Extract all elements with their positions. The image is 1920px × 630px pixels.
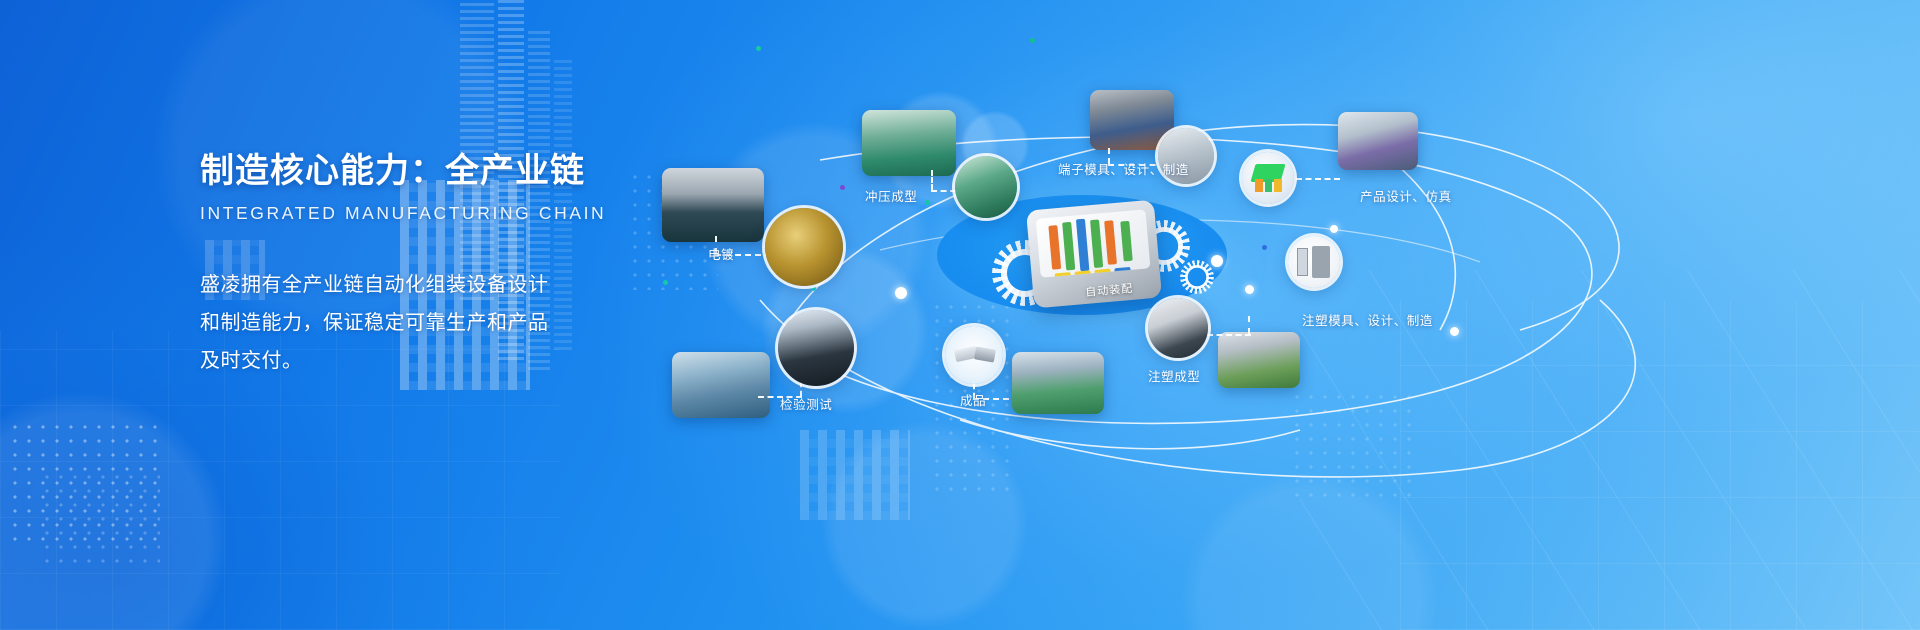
halftone-dots xyxy=(40,470,160,570)
node-label-terminal-mold: 端子模具、设计、制造 xyxy=(1058,159,1189,178)
mold-pin xyxy=(1114,267,1131,277)
accent-dot xyxy=(1262,245,1267,250)
mold-pin xyxy=(1074,270,1091,277)
accent-dot xyxy=(756,46,761,51)
page-title: 制造核心能力：全产业链 xyxy=(200,143,600,192)
connector-line xyxy=(1248,316,1250,334)
connector-line xyxy=(931,170,933,190)
node-photo-inspection[interactable] xyxy=(672,352,770,418)
node-icon-finished-goods[interactable] xyxy=(945,326,1003,384)
node-icon-injection-mold[interactable] xyxy=(1288,236,1340,288)
mold-pin xyxy=(1094,269,1111,278)
connector-line xyxy=(1296,178,1340,180)
mold-pin xyxy=(1048,225,1061,270)
node-icon-plating-grid[interactable] xyxy=(765,208,843,286)
mold-pin xyxy=(1120,221,1132,262)
node-icon-product-design[interactable] xyxy=(1242,152,1294,204)
page-subtitle: INTEGRATED MANUFACTURING CHAIN xyxy=(200,203,600,224)
node-label-finished-goods: 成品 xyxy=(960,390,986,409)
orbit-node-dot xyxy=(1330,225,1338,233)
connector-line xyxy=(1207,334,1251,336)
mold-pin xyxy=(1062,222,1075,271)
node-photo-product-design[interactable] xyxy=(1338,112,1418,170)
node-icon-injection-forming[interactable] xyxy=(1148,298,1208,358)
node-label-stamping: 冲压成型 xyxy=(865,186,917,205)
accent-dot xyxy=(840,185,845,190)
node-icon-inspection[interactable] xyxy=(778,310,854,386)
orbit-node-dot xyxy=(1245,285,1254,294)
banner-description: 盛凌拥有全产业链自动化组装设备设计和制造能力，保证稳定可靠生产和产品及时交付。 xyxy=(200,266,560,380)
hub-label: 自动装配 xyxy=(1085,280,1134,300)
mold-pin xyxy=(1104,220,1117,265)
orbit-node-dot xyxy=(895,287,907,299)
orbit-node-dot xyxy=(1450,327,1459,336)
node-label-plating: 电镀 xyxy=(708,244,734,263)
manufacturing-chain-diagram: 自动装配 电镀 冲压成型 端子模具、设计、制造 xyxy=(640,0,1920,630)
node-label-injection-forming: 注塑成型 xyxy=(1148,366,1200,385)
mold-pin xyxy=(1055,272,1072,278)
node-photo-plating[interactable] xyxy=(662,168,764,242)
node-label-inspection: 检验测试 xyxy=(780,394,832,413)
mold-pin xyxy=(1090,219,1103,268)
gear-icon xyxy=(1180,260,1214,294)
banner-copy-block: 制造核心能力：全产业链 INTEGRATED MANUFACTURING CHA… xyxy=(200,143,600,380)
node-label-injection-mold: 注塑模具、设计、制造 xyxy=(1302,310,1433,329)
node-icon-stamping-machine[interactable] xyxy=(955,156,1017,218)
node-photo-injection-mold[interactable] xyxy=(1218,332,1300,388)
mold-pin xyxy=(1076,219,1089,272)
accent-dot xyxy=(663,280,668,285)
node-photo-stamping[interactable] xyxy=(862,110,956,176)
node-photo-finished-goods[interactable] xyxy=(1012,352,1104,414)
manufacturing-capability-banner: 制造核心能力：全产业链 INTEGRATED MANUFACTURING CHA… xyxy=(0,0,1920,630)
accent-dot xyxy=(1030,38,1035,43)
accent-dot xyxy=(811,286,816,291)
node-label-product-design: 产品设计、仿真 xyxy=(1360,186,1452,205)
accent-dot xyxy=(925,200,930,205)
mold-inner-cavity xyxy=(1036,209,1151,277)
automatic-assembly-mold: 自动装配 xyxy=(1026,200,1162,309)
orbit-node-dot xyxy=(1211,255,1223,267)
